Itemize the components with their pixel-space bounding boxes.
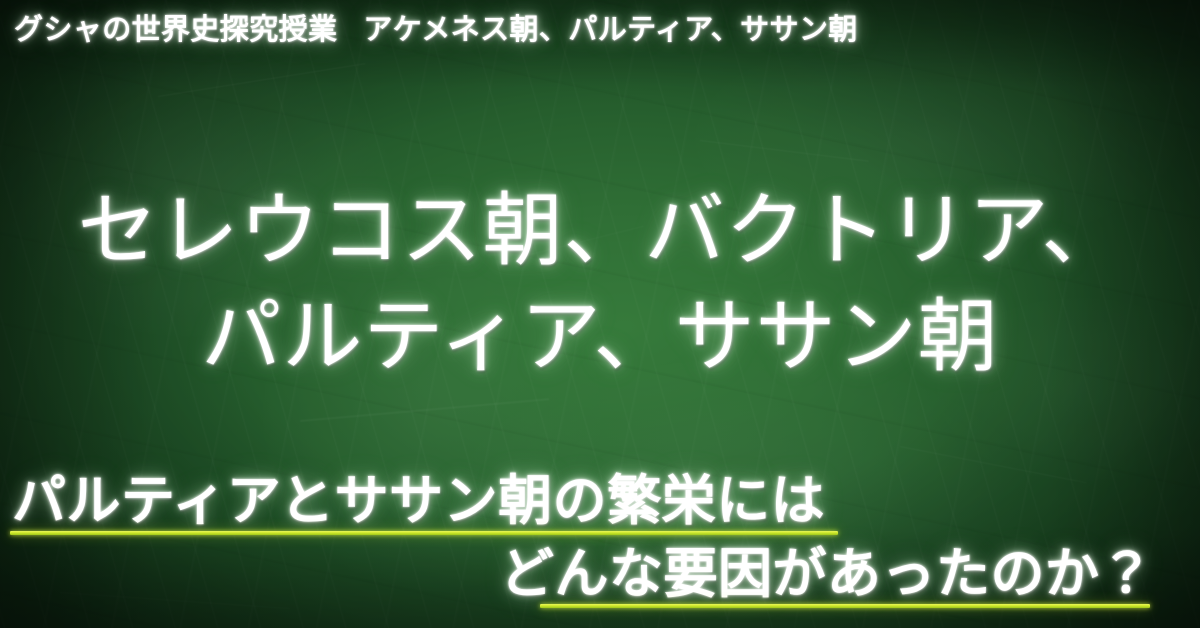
question-line-1-underline [10, 531, 838, 535]
header-caption: グシャの世界史探究授業アケメネス朝、パルティア、ササン朝 [14, 13, 1186, 45]
main-title-line-1: セレウコス朝、バクトリア、 [0, 178, 1200, 284]
main-title: セレウコス朝、バクトリア、 パルティア、ササン朝 [0, 178, 1200, 391]
question-line-1: パルティアとササン朝の繁栄には [12, 474, 825, 528]
slide-content: グシャの世界史探究授業アケメネス朝、パルティア、ササン朝 セレウコス朝、バクトリ… [0, 0, 1200, 628]
question-line-2-row: どんな要因があったのか？ [0, 541, 1200, 613]
main-title-line-2: パルティア、ササン朝 [0, 284, 1200, 390]
question-line-1-row: パルティアとササン朝の繁栄には [0, 468, 1200, 540]
topic-line: アケメネス朝、パルティア、ササン朝 [363, 12, 857, 46]
question-line-2-underline [540, 604, 1150, 608]
question-line-2: どんな要因があったのか？ [500, 547, 1154, 601]
series-title: グシャの世界史探究授業 [14, 12, 337, 46]
chalkboard-slide: グシャの世界史探究授業アケメネス朝、パルティア、ササン朝 セレウコス朝、バクトリ… [0, 0, 1200, 628]
question-block: パルティアとササン朝の繁栄には どんな要因があったのか？ [0, 468, 1200, 613]
